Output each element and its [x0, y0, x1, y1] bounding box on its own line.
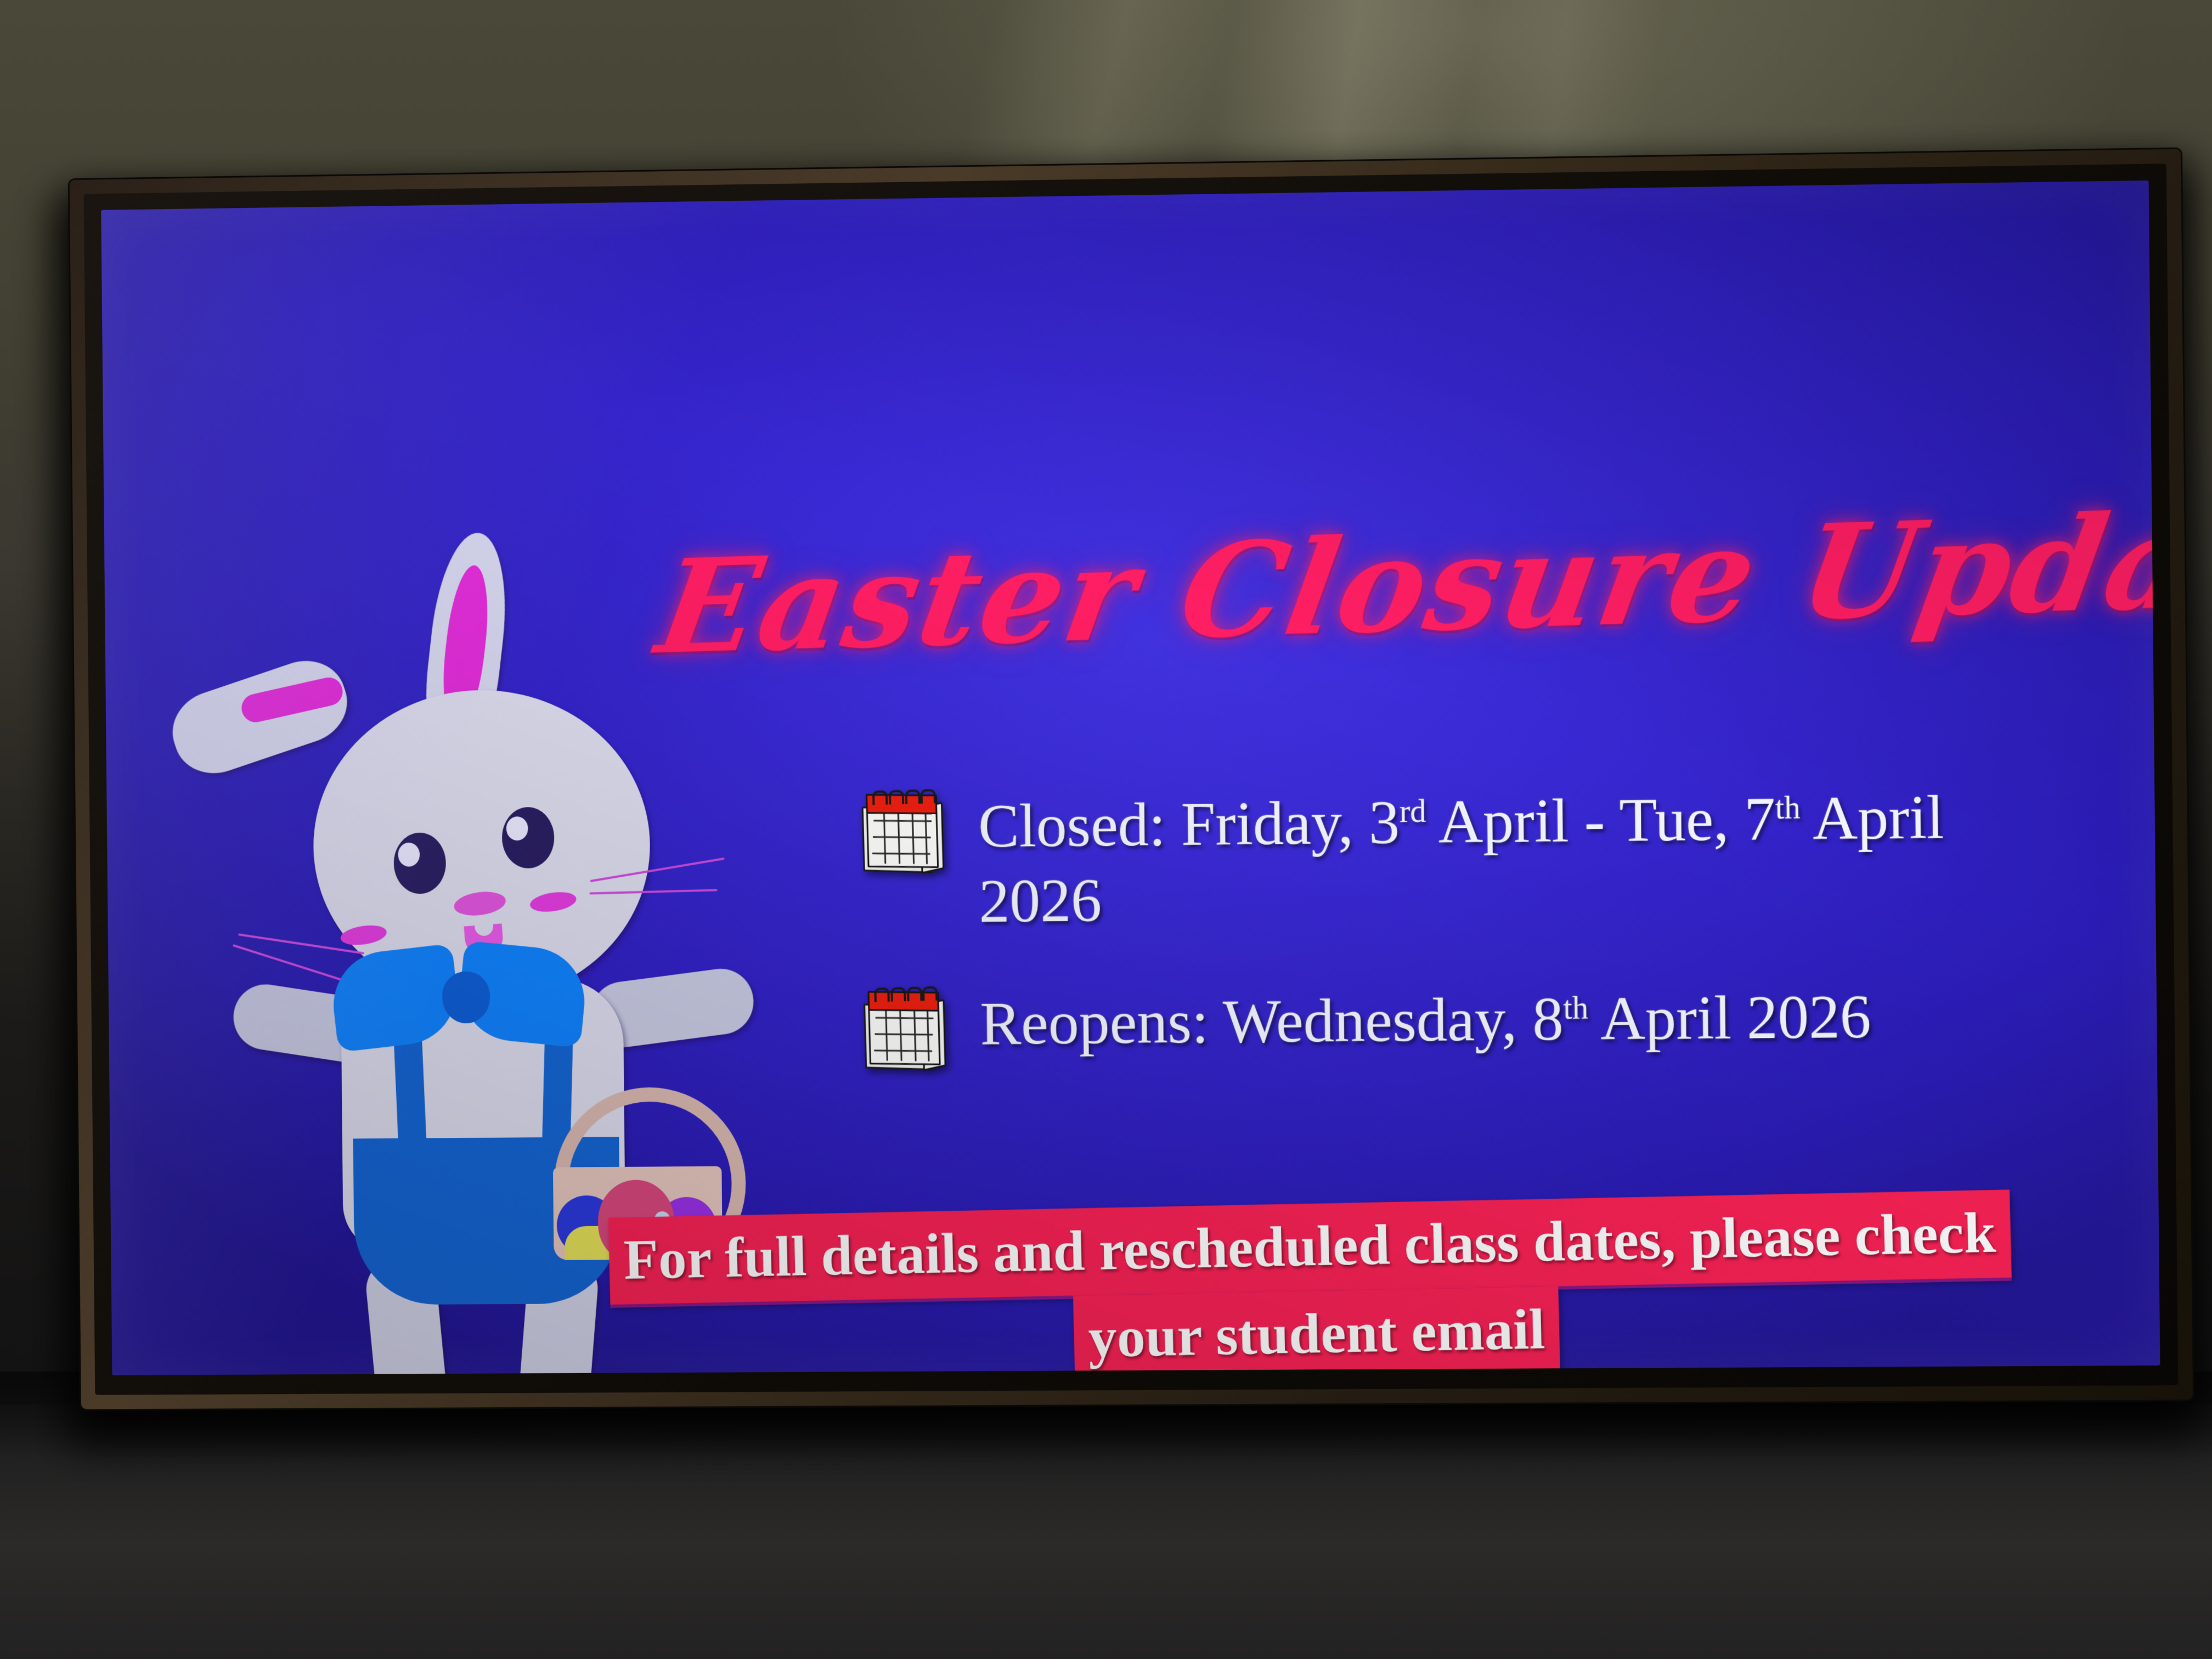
bunny-right-eye-highlight — [506, 816, 528, 840]
slide-title: Easter Closure Update — [650, 503, 1913, 673]
bunny-bowtie-knot — [442, 971, 490, 1023]
bullet-row-closed: Closed: Friday, 3rd April - Tue, 7th Apr… — [861, 779, 2047, 940]
calendar-icon — [860, 792, 945, 874]
bullet-text-reopens: Reopens: Wednesday, 8th April 2026 — [980, 979, 1871, 1061]
tv-screen: Easter Closure Update — [101, 180, 2160, 1375]
bullet-row-reopens: Reopens: Wednesday, 8th April 2026 — [863, 978, 2049, 1071]
room-background: Easter Closure Update — [0, 0, 2212, 1659]
banner-line-2: your student email — [1073, 1286, 1560, 1375]
television: Easter Closure Update — [70, 149, 2193, 1409]
calendar-icon — [862, 989, 947, 1071]
bullet-text-closed: Closed: Friday, 3rd April - Tue, 7th Apr… — [978, 779, 2047, 939]
bunny-left-eye-highlight — [398, 843, 420, 867]
highlight-banner: For full details and rescheduled class d… — [591, 1189, 2047, 1375]
